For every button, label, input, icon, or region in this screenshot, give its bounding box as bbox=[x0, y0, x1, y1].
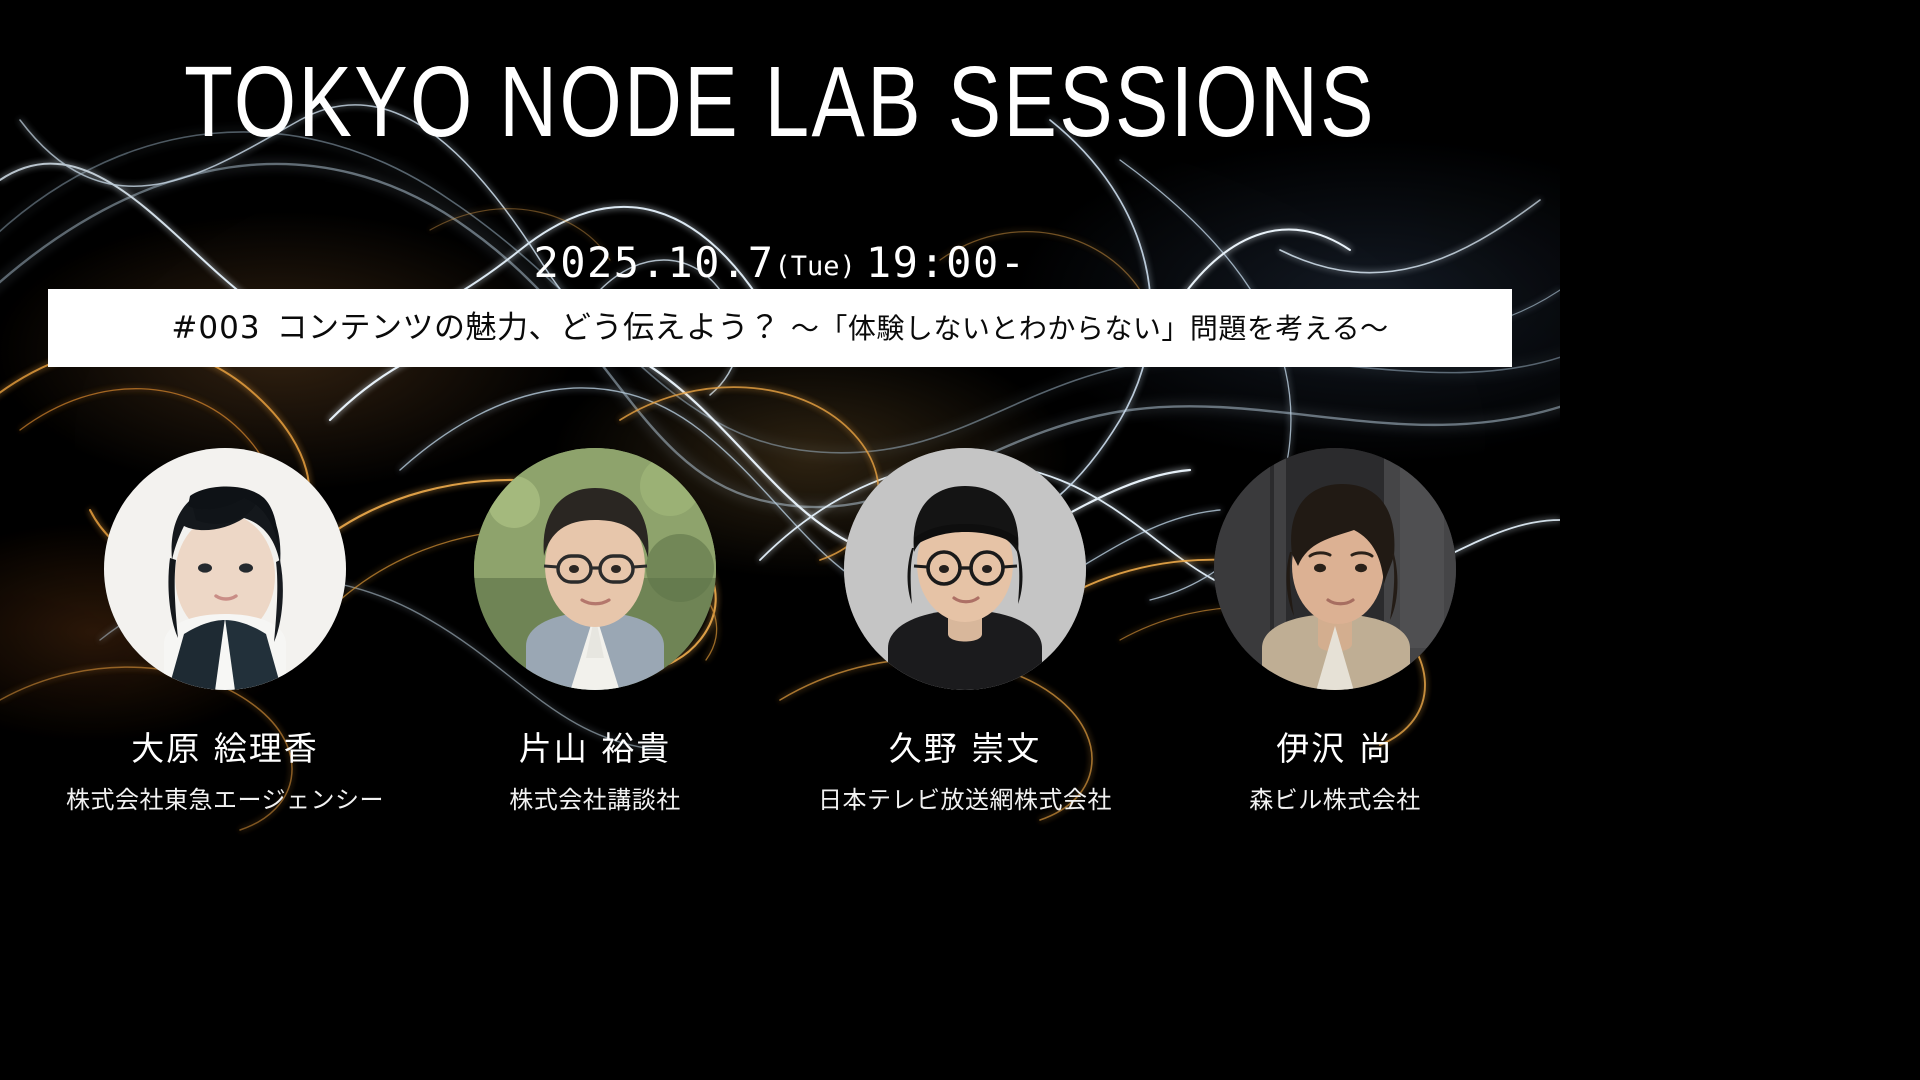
event-datetime: 2025.10.7(Tue)19:00- bbox=[0, 238, 1560, 287]
portrait-kuno bbox=[844, 448, 1086, 690]
portrait-izawa bbox=[1214, 448, 1456, 690]
session-banner: #003コンテンツの魅力、どう伝えよう？ 〜「体験しないとわからない」問題を考え… bbox=[48, 289, 1512, 367]
speaker-card: 大原 絵理香 株式会社東急エージェンシー bbox=[40, 448, 410, 815]
speaker-org: 株式会社東急エージェンシー bbox=[66, 780, 384, 815]
speaker-org: 株式会社講談社 bbox=[509, 780, 681, 815]
speaker-name: 伊沢 尚 bbox=[1276, 722, 1394, 770]
avatar bbox=[1214, 448, 1456, 690]
event-date: 2025.10.7 bbox=[533, 238, 774, 287]
portrait-katayama bbox=[474, 448, 716, 690]
avatar bbox=[474, 448, 716, 690]
session-banner-text: #003コンテンツの魅力、どう伝えよう？ 〜「体験しないとわからない」問題を考え… bbox=[171, 313, 1388, 344]
event-poster: TOKYO NODE LAB SESSIONS 2025.10.7(Tue)19… bbox=[0, 0, 1560, 878]
speaker-org: 森ビル株式会社 bbox=[1249, 780, 1421, 815]
portrait-ohara bbox=[104, 448, 346, 690]
speaker-name: 大原 絵理香 bbox=[131, 722, 319, 770]
session-headline: コンテンツの魅力、どう伝えよう？ bbox=[277, 310, 781, 346]
page-title: TOKYO NODE LAB SESSIONS bbox=[156, 48, 1404, 156]
speaker-list: 大原 絵理香 株式会社東急エージェンシー bbox=[0, 448, 1560, 815]
avatar bbox=[104, 448, 346, 690]
speaker-card: 伊沢 尚 森ビル株式会社 bbox=[1150, 448, 1520, 815]
speaker-name: 久野 崇文 bbox=[889, 722, 1042, 770]
avatar bbox=[844, 448, 1086, 690]
speaker-card: 片山 裕貴 株式会社講談社 bbox=[410, 448, 780, 815]
session-number: #003 bbox=[171, 310, 260, 346]
speaker-org: 日本テレビ放送網株式会社 bbox=[818, 780, 1112, 815]
event-day-of-week: (Tue) bbox=[775, 251, 856, 282]
event-time: 19:00- bbox=[866, 238, 1027, 287]
session-subline: 〜「体験しないとわからない」問題を考える〜 bbox=[791, 312, 1389, 345]
speaker-name: 片山 裕貴 bbox=[519, 722, 672, 770]
speaker-card: 久野 崇文 日本テレビ放送網株式会社 bbox=[780, 448, 1150, 815]
